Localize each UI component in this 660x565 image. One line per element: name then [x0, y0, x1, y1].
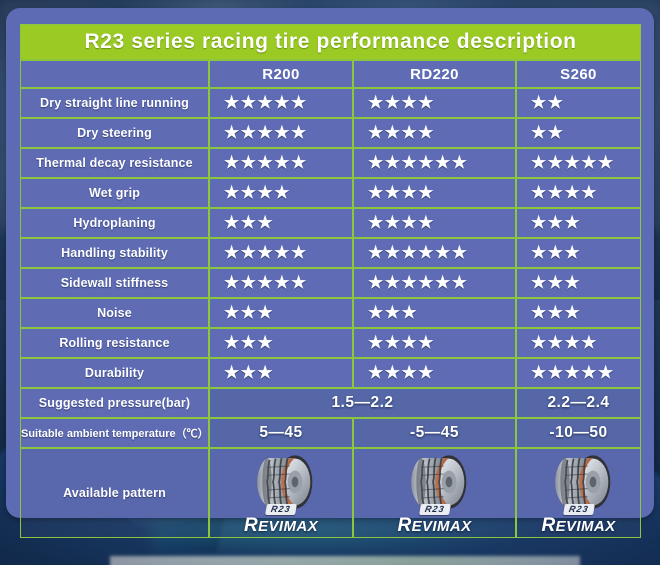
row-label: Handling stability — [20, 238, 209, 268]
row-label: Durability — [20, 358, 209, 388]
revimax-wordmark: REVIMAX — [221, 518, 341, 535]
star-rating: ★★★★ — [368, 120, 435, 146]
row-label: Suitable ambient temperature（℃） — [20, 418, 209, 448]
tire-graphic-wrapper: R23REVIMAX — [210, 450, 352, 536]
rating-cell: ★★★★★★ — [353, 148, 516, 178]
rating-cell: ★★★★★ — [209, 118, 353, 148]
wordmark-capital: R — [541, 515, 555, 536]
star-rating: ★★★★★★ — [368, 150, 468, 176]
table-row: Noise★★★★★★★★★ — [20, 298, 641, 328]
row-label: Sidewall stiffness — [20, 268, 209, 298]
rating-cell: ★★★★★★ — [353, 238, 516, 268]
ambient-temperature-row: Suitable ambient temperature（℃）5—45-5—45… — [20, 418, 641, 448]
table-row: Rolling resistance★★★★★★★★★★★ — [20, 328, 641, 358]
rating-cell: ★★★ — [516, 298, 641, 328]
tire-graphic-wrapper: R23REVIMAX — [354, 450, 515, 536]
rating-cell: ★★★ — [209, 298, 353, 328]
rating-cell: ★★★★ — [516, 178, 641, 208]
star-rating: ★★★★★ — [224, 150, 308, 176]
pattern-cell: R23REVIMAX — [353, 448, 516, 538]
rating-cell: ★★★★★★ — [353, 268, 516, 298]
rating-cell: ★★★★ — [353, 358, 516, 388]
row-label: Noise — [20, 298, 209, 328]
pattern-cell: R23REVIMAX — [209, 448, 353, 538]
wordmark-rest: EVIMAX — [556, 518, 616, 535]
rating-cell: ★★★★★ — [516, 358, 641, 388]
table-row: Dry straight line running★★★★★★★★★★★ — [20, 88, 641, 118]
star-rating: ★★★★ — [531, 180, 598, 206]
rating-cell: ★★★★★ — [209, 268, 353, 298]
rating-cell: ★★★ — [516, 238, 641, 268]
table-row: Durability★★★★★★★★★★★★ — [20, 358, 641, 388]
star-rating: ★★ — [531, 120, 564, 146]
rating-cell: ★★★ — [209, 328, 353, 358]
star-rating: ★★★ — [368, 300, 418, 326]
available-pattern-row: Available pattern — [20, 448, 641, 538]
wordmark-capital: R — [397, 515, 411, 536]
temperature-value: -5—45 — [353, 418, 516, 448]
star-rating: ★★★★★ — [531, 360, 615, 386]
table-row: Thermal decay resistance★★★★★★★★★★★★★★★★ — [20, 148, 641, 178]
temperature-value: -10—50 — [516, 418, 641, 448]
star-rating: ★★★ — [531, 270, 581, 296]
rating-cell: ★★★ — [209, 208, 353, 238]
row-label: Suggested pressure(bar) — [20, 388, 209, 418]
pressure-value-s260: 2.2—2.4 — [516, 388, 641, 418]
row-label: Rolling resistance — [20, 328, 209, 358]
row-label: Dry steering — [20, 118, 209, 148]
revimax-logo: R23REVIMAX — [519, 499, 639, 535]
column-header-r200: R200 — [209, 60, 353, 88]
rating-cell: ★★ — [516, 118, 641, 148]
revimax-logo: R23REVIMAX — [221, 499, 341, 535]
rating-cell: ★★★★ — [516, 328, 641, 358]
table-title-row: R23 series racing tire performance descr… — [20, 24, 641, 60]
rating-cell: ★★★★★ — [516, 148, 641, 178]
rating-cell: ★★ — [516, 88, 641, 118]
star-rating: ★★★★★★ — [368, 270, 468, 296]
row-label: Hydroplaning — [20, 208, 209, 238]
wordmark-capital: R — [244, 515, 258, 536]
star-rating: ★★★★ — [368, 360, 435, 386]
page-title: R23 series racing tire performance descr… — [20, 24, 641, 60]
star-rating: ★★★ — [224, 360, 274, 386]
star-rating: ★★★★ — [531, 330, 598, 356]
rating-cell: ★★★★★ — [209, 148, 353, 178]
revimax-wordmark: REVIMAX — [519, 518, 639, 535]
star-rating: ★★★ — [531, 300, 581, 326]
row-label: Wet grip — [20, 178, 209, 208]
suggested-pressure-row: Suggested pressure(bar)1.5—2.22.2—2.4 — [20, 388, 641, 418]
row-label: Thermal decay resistance — [20, 148, 209, 178]
wordmark-rest: EVIMAX — [258, 518, 318, 535]
table-header-row: R200RD220S260 — [20, 60, 641, 88]
star-rating: ★★★★★ — [531, 150, 615, 176]
table-row: Sidewall stiffness★★★★★★★★★★★★★★ — [20, 268, 641, 298]
star-rating: ★★★★★★ — [368, 240, 468, 266]
table-row: Hydroplaning★★★★★★★★★★ — [20, 208, 641, 238]
column-header-blank — [20, 60, 209, 88]
star-rating: ★★★ — [224, 210, 274, 236]
tire-performance-table: R23 series racing tire performance descr… — [20, 24, 641, 538]
star-rating: ★★★★★ — [224, 120, 308, 146]
rating-cell: ★★★ — [516, 208, 641, 238]
rating-cell: ★★★★ — [353, 208, 516, 238]
rating-cell: ★★★★ — [353, 118, 516, 148]
star-rating: ★★★★★ — [224, 90, 308, 116]
star-rating: ★★★ — [531, 210, 581, 236]
star-rating: ★★ — [531, 90, 564, 116]
r23-badge: R23 — [563, 504, 594, 515]
revimax-wordmark: REVIMAX — [375, 518, 495, 535]
r23-badge: R23 — [419, 504, 450, 515]
star-rating: ★★★ — [224, 300, 274, 326]
row-label: Available pattern — [20, 448, 209, 538]
column-header-s260: S260 — [516, 60, 641, 88]
pattern-cell: R23REVIMAX — [516, 448, 641, 538]
star-rating: ★★★★★ — [224, 240, 308, 266]
column-header-rd220: RD220 — [353, 60, 516, 88]
row-label: Dry straight line running — [20, 88, 209, 118]
rating-cell: ★★★★★ — [209, 238, 353, 268]
r23-badge: R23 — [265, 504, 296, 515]
star-rating: ★★★★★ — [224, 270, 308, 296]
rating-cell: ★★★ — [516, 268, 641, 298]
rating-cell: ★★★★ — [353, 88, 516, 118]
star-rating: ★★★ — [531, 240, 581, 266]
rating-cell: ★★★★★ — [209, 88, 353, 118]
temperature-value: 5—45 — [209, 418, 353, 448]
rating-cell: ★★★★ — [209, 178, 353, 208]
star-rating: ★★★★ — [368, 210, 435, 236]
star-rating: ★★★★ — [368, 90, 435, 116]
star-rating: ★★★★ — [368, 330, 435, 356]
star-rating: ★★★★ — [224, 180, 291, 206]
star-rating: ★★★ — [224, 330, 274, 356]
rating-cell: ★★★ — [353, 298, 516, 328]
tire-graphic-wrapper: R23REVIMAX — [517, 450, 640, 536]
rating-cell: ★★★★ — [353, 328, 516, 358]
revimax-logo: R23REVIMAX — [375, 499, 495, 535]
rating-cell: ★★★★ — [353, 178, 516, 208]
table-row: Dry steering★★★★★★★★★★★ — [20, 118, 641, 148]
star-rating: ★★★★ — [368, 180, 435, 206]
table-row: Wet grip★★★★★★★★★★★★ — [20, 178, 641, 208]
wordmark-rest: EVIMAX — [412, 518, 472, 535]
table-row: Handling stability★★★★★★★★★★★★★★ — [20, 238, 641, 268]
rating-cell: ★★★ — [209, 358, 353, 388]
pressure-value-merged: 1.5—2.2 — [209, 388, 516, 418]
